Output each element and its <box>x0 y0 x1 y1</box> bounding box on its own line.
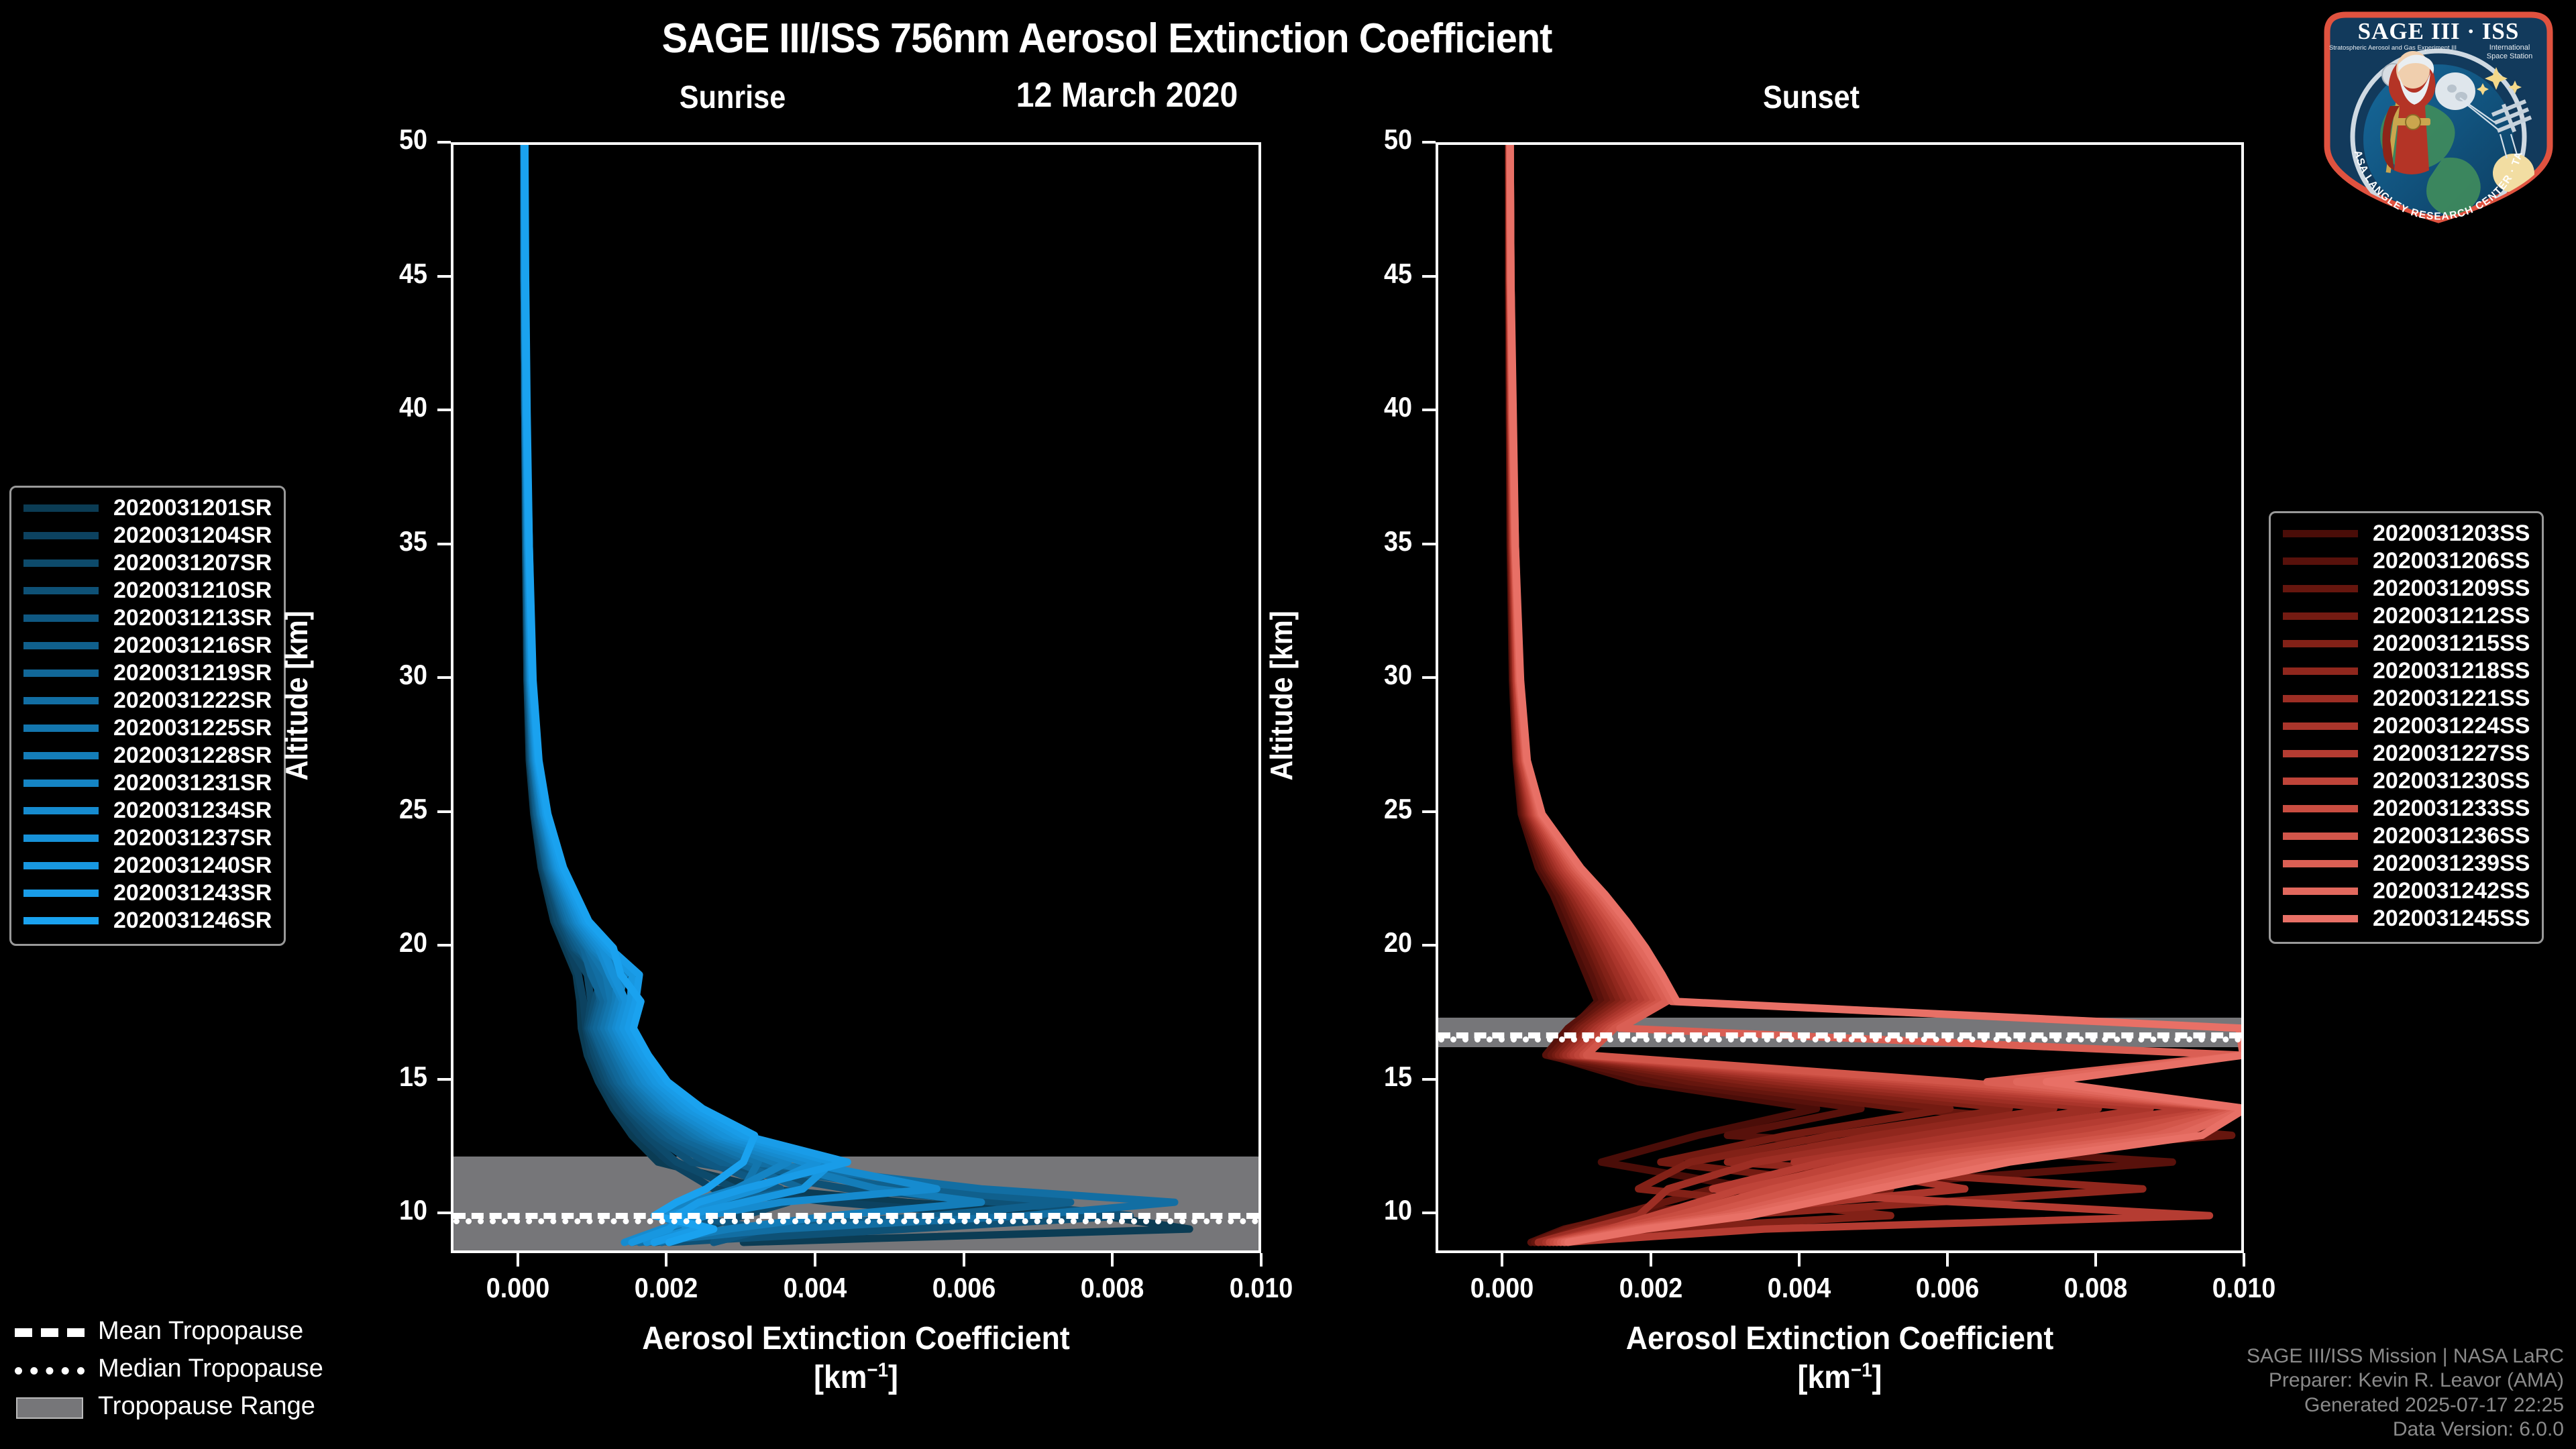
sunset-legend-item-row[interactable]: 2020031224SS <box>2283 712 2530 740</box>
patch-subtitle-left: Stratospheric Aerosol and Gas Experiment… <box>2329 44 2457 52</box>
date-subtitle: 12 March 2020 <box>853 75 1401 115</box>
y-tick-mark <box>437 1078 451 1081</box>
legend-color-swatch <box>23 587 99 594</box>
y-tick-label: 35 <box>337 525 427 557</box>
legend-color-swatch <box>2283 860 2358 867</box>
legend-entry-label: 2020031236SS <box>2373 823 2530 849</box>
profile-curves <box>453 145 1261 1253</box>
x-tick-label: 0.000 <box>445 1272 590 1304</box>
legend-entry-label: 2020031243SR <box>113 880 272 906</box>
sunrise-axes <box>451 142 1261 1253</box>
profile-line <box>524 145 1175 1242</box>
legend-entry-label: 2020031231SR <box>113 770 272 796</box>
y-tick-label: 30 <box>1322 659 1412 691</box>
y-tick-mark <box>437 676 451 679</box>
x-tick-label: 0.006 <box>892 1272 1036 1304</box>
legend-color-swatch <box>2283 557 2358 565</box>
x-tick-label: 0.006 <box>1875 1272 2020 1304</box>
legend-entry-label: 2020031209SS <box>2373 576 2530 602</box>
patch-title: SAGE III · ISS <box>2358 18 2520 44</box>
sunset-legend-item-row[interactable]: 2020031233SS <box>2283 795 2530 822</box>
legend-color-swatch <box>23 559 99 567</box>
legend-color-swatch <box>23 669 99 677</box>
sunrise-legend-item-row[interactable]: 2020031210SR <box>23 577 272 604</box>
y-tick-label: 10 <box>337 1194 427 1226</box>
profile-line <box>524 145 818 1242</box>
y-tick-mark <box>437 409 451 411</box>
sunrise-legend-item-row[interactable]: 2020031204SR <box>23 522 272 549</box>
sunrise-legend-item-row[interactable]: 2020031246SR <box>23 907 272 934</box>
legend-color-swatch <box>23 614 99 622</box>
legend-entry-label: 2020031224SS <box>2373 713 2530 739</box>
sunrise-legend-item-row[interactable]: 2020031225SR <box>23 714 272 742</box>
x-axis-label-unit: [km−1] <box>1401 1358 2278 1397</box>
x-tick-mark <box>517 1253 519 1267</box>
legend-color-swatch <box>23 724 99 732</box>
y-tick-label: 25 <box>1322 793 1412 825</box>
legend-entry-label: 2020031204SR <box>113 523 272 549</box>
legend-entry-label: 2020031245SS <box>2373 906 2530 932</box>
x-axis-label-text: Aerosol Extinction Coefficient <box>1401 1320 2278 1358</box>
y-tick-label: 40 <box>1322 391 1412 423</box>
legend-entry-label: 2020031221SS <box>2373 686 2530 712</box>
legend-entry-label: 2020031212SS <box>2373 603 2530 629</box>
sunrise-legend-item-row[interactable]: 2020031219SR <box>23 659 272 687</box>
page-title: SAGE III/ISS 756nm Aerosol Extinction Co… <box>78 15 2137 62</box>
legend-color-swatch <box>2283 750 2358 757</box>
y-axis-label: Altitude [km] <box>1263 575 1299 816</box>
sunset-legend-item-row[interactable]: 2020031242SS <box>2283 877 2530 905</box>
credit-mission: SAGE III/ISS Mission | NASA LaRC <box>2247 1344 2564 1369</box>
dotted-line-icon <box>15 1360 85 1377</box>
legend-entry-label: 2020031246SR <box>113 908 272 934</box>
x-tick-label: 0.010 <box>2171 1272 2316 1304</box>
sunset-legend-item-row[interactable]: 2020031227SS <box>2283 740 2530 767</box>
legend-entry-label: 2020031213SR <box>113 605 272 631</box>
sunrise-legend-item-row[interactable]: 2020031240SR <box>23 852 272 879</box>
legend-color-swatch <box>23 890 99 897</box>
sunrise-legend[interactable]: 2020031201SR2020031204SR2020031207SR2020… <box>9 486 286 946</box>
legend-entry-label: 2020031203SS <box>2373 521 2530 547</box>
legend-entry-label: 2020031228SR <box>113 743 272 769</box>
x-tick-mark <box>2243 1253 2245 1267</box>
x-tick-label: 0.004 <box>1727 1272 1872 1304</box>
credit-block: SAGE III/ISS Mission | NASA LaRC Prepare… <box>2247 1344 2564 1442</box>
legend-color-swatch <box>23 642 99 649</box>
profile-curves <box>1438 145 2244 1253</box>
sunset-legend-item-row[interactable]: 2020031209SS <box>2283 575 2530 602</box>
y-tick-label: 10 <box>1322 1194 1412 1226</box>
y-tick-label: 20 <box>1322 926 1412 959</box>
y-tick-mark <box>1422 543 1436 545</box>
y-tick-mark <box>437 1212 451 1214</box>
profile-line <box>524 145 981 1242</box>
x-axis-label: Aerosol Extinction Coefficient[km−1] <box>417 1320 1295 1397</box>
legend-entry-label: 2020031237SR <box>113 825 272 851</box>
x-tick-mark <box>963 1253 965 1267</box>
y-tick-mark <box>437 944 451 947</box>
y-tick-label: 45 <box>1322 258 1412 290</box>
legend-color-swatch <box>23 917 99 924</box>
legend-row-mean-tropopause: Mean Tropopause <box>15 1312 323 1350</box>
x-tick-label: 0.010 <box>1189 1272 1334 1304</box>
dashed-line-icon <box>15 1322 85 1340</box>
credit-generated: Generated 2025-07-17 22:25 <box>2247 1393 2564 1418</box>
legend-color-swatch <box>2283 640 2358 647</box>
legend-color-swatch <box>23 752 99 759</box>
sunset-legend[interactable]: 2020031203SS2020031206SS2020031209SS2020… <box>2269 511 2544 944</box>
x-tick-mark <box>665 1253 667 1267</box>
legend-entry-label: 2020031234SR <box>113 798 272 824</box>
sunset-legend-item-row[interactable]: 2020031239SS <box>2283 850 2530 877</box>
legend-entry-label: 2020031230SS <box>2373 768 2530 794</box>
profile-line <box>525 145 847 1242</box>
sunrise-legend-item-row[interactable]: 2020031237SR <box>23 824 272 852</box>
y-tick-label: 35 <box>1322 525 1412 557</box>
x-tick-label: 0.002 <box>1578 1272 1723 1304</box>
y-tick-mark <box>1422 409 1436 411</box>
x-tick-mark <box>1501 1253 1503 1267</box>
median-tropopause-label: Median Tropopause <box>98 1354 323 1383</box>
legend-color-swatch <box>23 504 99 512</box>
profile-line <box>524 145 936 1242</box>
y-tick-mark <box>1422 676 1436 679</box>
sunrise-legend-item-row[interactable]: 2020031201SR <box>23 494 272 522</box>
legend-color-swatch <box>23 532 99 539</box>
legend-entry-label: 2020031225SR <box>113 715 272 741</box>
legend-color-swatch <box>2283 585 2358 592</box>
mean-tropopause-label: Mean Tropopause <box>98 1317 303 1346</box>
patch-subtitle-right-1: International <box>2489 44 2530 52</box>
sunset-legend-item-row[interactable]: 2020031236SS <box>2283 822 2530 850</box>
sunset-panel-title: Sunset <box>1678 79 1944 116</box>
x-tick-mark <box>2094 1253 2097 1267</box>
credit-data-version: Data Version: 6.0.0 <box>2247 1417 2564 1442</box>
gray-band-swatch-icon <box>15 1397 85 1415</box>
x-tick-label: 0.004 <box>743 1272 888 1304</box>
legend-color-swatch <box>2283 805 2358 812</box>
sunrise-legend-item-row[interactable]: 2020031243SR <box>23 879 272 907</box>
sunrise-legend-item-row[interactable]: 2020031216SR <box>23 632 272 659</box>
x-axis-label: Aerosol Extinction Coefficient[km−1] <box>1401 1320 2278 1397</box>
legend-entry-label: 2020031242SS <box>2373 878 2530 904</box>
y-tick-label: 30 <box>337 659 427 691</box>
legend-color-swatch <box>23 697 99 704</box>
legend-entry-label: 2020031201SR <box>113 495 272 521</box>
x-axis-label-unit: [km−1] <box>417 1358 1295 1397</box>
y-tick-mark <box>437 543 451 545</box>
credit-preparer: Preparer: Kevin R. Leavor (AMA) <box>2247 1368 2564 1393</box>
legend-entry-label: 2020031206SS <box>2373 548 2530 574</box>
legend-color-swatch <box>2283 530 2358 537</box>
x-tick-label: 0.008 <box>2023 1272 2168 1304</box>
y-tick-label: 25 <box>337 793 427 825</box>
y-tick-label: 15 <box>337 1061 427 1093</box>
legend-entry-label: 2020031222SR <box>113 688 272 714</box>
median-tropopause-line <box>1438 1036 2241 1042</box>
legend-color-swatch <box>2283 667 2358 675</box>
sunset-legend-item-row[interactable]: 2020031215SS <box>2283 630 2530 657</box>
legend-entry-label: 2020031216SR <box>113 633 272 659</box>
sunset-legend-item-row[interactable]: 2020031230SS <box>2283 767 2530 795</box>
tropopause-range-label: Tropopause Range <box>98 1392 315 1421</box>
y-axis-label: Altitude [km] <box>278 575 315 816</box>
x-tick-mark <box>814 1253 816 1267</box>
sunrise-legend-item-row[interactable]: 2020031234SR <box>23 797 272 824</box>
y-tick-mark <box>1422 275 1436 278</box>
x-tick-label: 0.002 <box>594 1272 739 1304</box>
sunset-axes <box>1436 142 2244 1253</box>
legend-color-swatch <box>2283 833 2358 840</box>
x-tick-mark <box>1798 1253 1801 1267</box>
y-tick-label: 40 <box>337 391 427 423</box>
legend-color-swatch <box>23 862 99 869</box>
y-tick-mark <box>1422 1212 1436 1214</box>
sunrise-legend-item-row[interactable]: 2020031213SR <box>23 604 272 632</box>
y-tick-mark <box>1422 1078 1436 1081</box>
legend-color-swatch <box>2283 888 2358 895</box>
y-tick-mark <box>437 810 451 813</box>
legend-row-tropopause-range: Tropopause Range <box>15 1387 323 1425</box>
legend-entry-label: 2020031239SS <box>2373 851 2530 877</box>
legend-entry-label: 2020031207SR <box>113 550 272 576</box>
y-tick-mark <box>1422 810 1436 813</box>
x-tick-mark <box>1111 1253 1114 1267</box>
patch-subtitle-right-2: Space Station <box>2487 52 2533 60</box>
median-tropopause-line <box>453 1218 1258 1224</box>
legend-color-swatch <box>23 835 99 842</box>
legend-color-swatch <box>23 807 99 814</box>
legend-color-swatch <box>2283 612 2358 620</box>
sunset-legend-item-row[interactable]: 2020031212SS <box>2283 602 2530 630</box>
y-tick-label: 50 <box>337 123 427 156</box>
sunset-legend-item-row[interactable]: 2020031218SS <box>2283 657 2530 685</box>
legend-entry-label: 2020031240SR <box>113 853 272 879</box>
tropopause-legend: Mean Tropopause Median Tropopause Tropop… <box>15 1312 323 1425</box>
profile-line <box>525 145 833 1242</box>
legend-color-swatch <box>2283 915 2358 922</box>
x-tick-mark <box>1650 1253 1652 1267</box>
y-tick-label: 20 <box>337 926 427 959</box>
legend-row-median-tropopause: Median Tropopause <box>15 1350 323 1387</box>
y-tick-mark <box>437 275 451 278</box>
y-tick-mark <box>1422 944 1436 947</box>
sunset-legend-item-row[interactable]: 2020031221SS <box>2283 685 2530 712</box>
sunrise-legend-item-row[interactable]: 2020031207SR <box>23 549 272 577</box>
y-tick-mark <box>1422 141 1436 144</box>
legend-color-swatch <box>2283 722 2358 730</box>
x-axis-label-text: Aerosol Extinction Coefficient <box>417 1320 1295 1358</box>
x-tick-label: 0.000 <box>1430 1272 1574 1304</box>
sage-iii-iss-mission-patch-icon: SAGE III · ISS Stratospheric Aerosol and… <box>2318 5 2559 227</box>
y-tick-label: 50 <box>1322 123 1412 156</box>
y-tick-label: 15 <box>1322 1061 1412 1093</box>
legend-entry-label: 2020031218SS <box>2373 658 2530 684</box>
legend-entry-label: 2020031233SS <box>2373 796 2530 822</box>
legend-entry-label: 2020031227SS <box>2373 741 2530 767</box>
x-tick-mark <box>1260 1253 1263 1267</box>
sunset-legend-item-row[interactable]: 2020031203SS <box>2283 520 2530 547</box>
legend-color-swatch <box>23 780 99 787</box>
legend-entry-label: 2020031210SR <box>113 578 272 604</box>
sunrise-legend-item-row[interactable]: 2020031228SR <box>23 742 272 769</box>
sunrise-legend-item-row[interactable]: 2020031231SR <box>23 769 272 797</box>
x-tick-mark <box>1946 1253 1949 1267</box>
sunset-legend-item-row[interactable]: 2020031206SS <box>2283 547 2530 575</box>
sunrise-legend-item-row[interactable]: 2020031222SR <box>23 687 272 714</box>
legend-entry-label: 2020031219SR <box>113 660 272 686</box>
x-tick-label: 0.008 <box>1040 1272 1185 1304</box>
legend-color-swatch <box>2283 695 2358 702</box>
sunset-legend-item-row[interactable]: 2020031245SS <box>2283 905 2530 932</box>
legend-entry-label: 2020031215SS <box>2373 631 2530 657</box>
legend-color-swatch <box>2283 777 2358 785</box>
sunrise-panel-title: Sunrise <box>600 79 865 116</box>
y-tick-label: 45 <box>337 258 427 290</box>
y-tick-mark <box>437 141 451 144</box>
